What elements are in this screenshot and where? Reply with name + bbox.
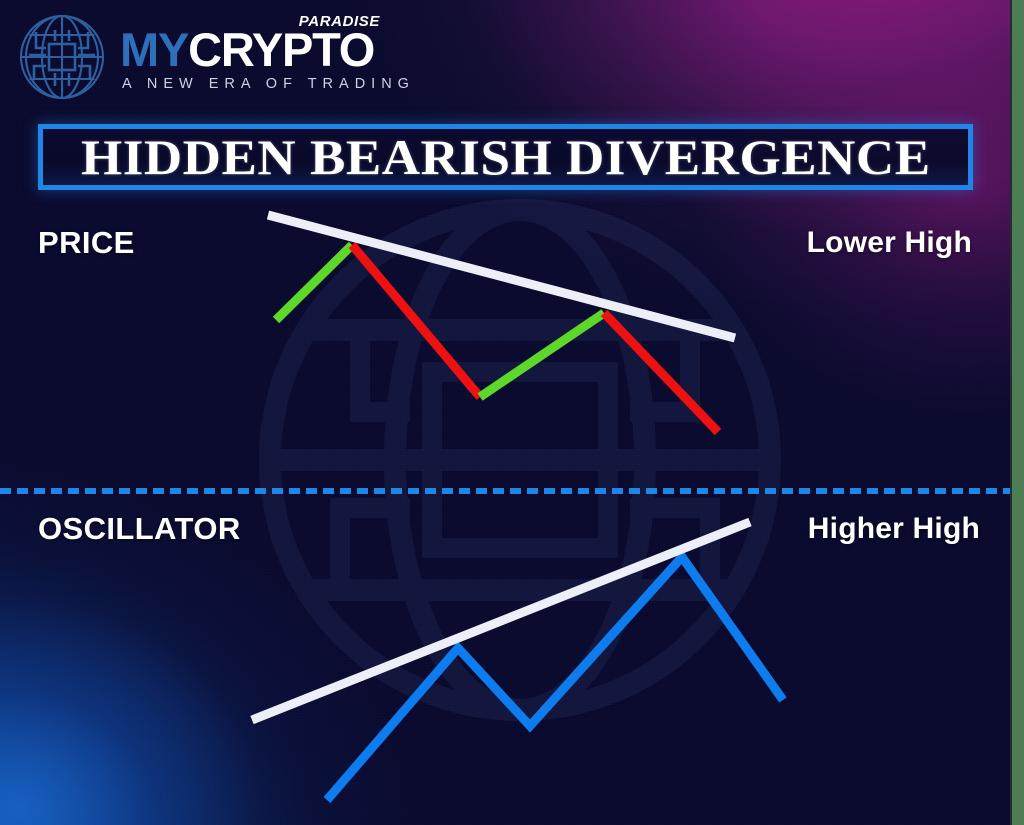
brand-wordmark: PARADISE MYCRYPTO A NEW ERA OF TRADING bbox=[120, 12, 380, 102]
globe-circuit-icon bbox=[14, 10, 110, 104]
price-panel-label: PRICE bbox=[38, 225, 135, 261]
page-title: HIDDEN BEARISH DIVERGENCE bbox=[81, 132, 931, 182]
brand-name: MYCRYPTO bbox=[120, 26, 374, 73]
higher-high-annotation: Higher High bbox=[808, 512, 980, 546]
brand-name-secondary: CRYPTO bbox=[188, 23, 374, 76]
panel-divider bbox=[0, 488, 1012, 494]
page-title-box: HIDDEN BEARISH DIVERGENCE bbox=[38, 124, 973, 190]
infographic-canvas: PARADISE MYCRYPTO A NEW ERA OF TRADING H… bbox=[0, 0, 1024, 825]
edge-strip bbox=[1012, 0, 1024, 825]
brand-tagline: A NEW ERA OF TRADING bbox=[122, 76, 415, 92]
oscillator-panel-label: OSCILLATOR bbox=[38, 511, 241, 547]
brand-logo: PARADISE MYCRYPTO A NEW ERA OF TRADING bbox=[14, 8, 374, 104]
brand-name-primary: MY bbox=[120, 23, 188, 76]
lower-high-annotation: Lower High bbox=[807, 226, 972, 260]
